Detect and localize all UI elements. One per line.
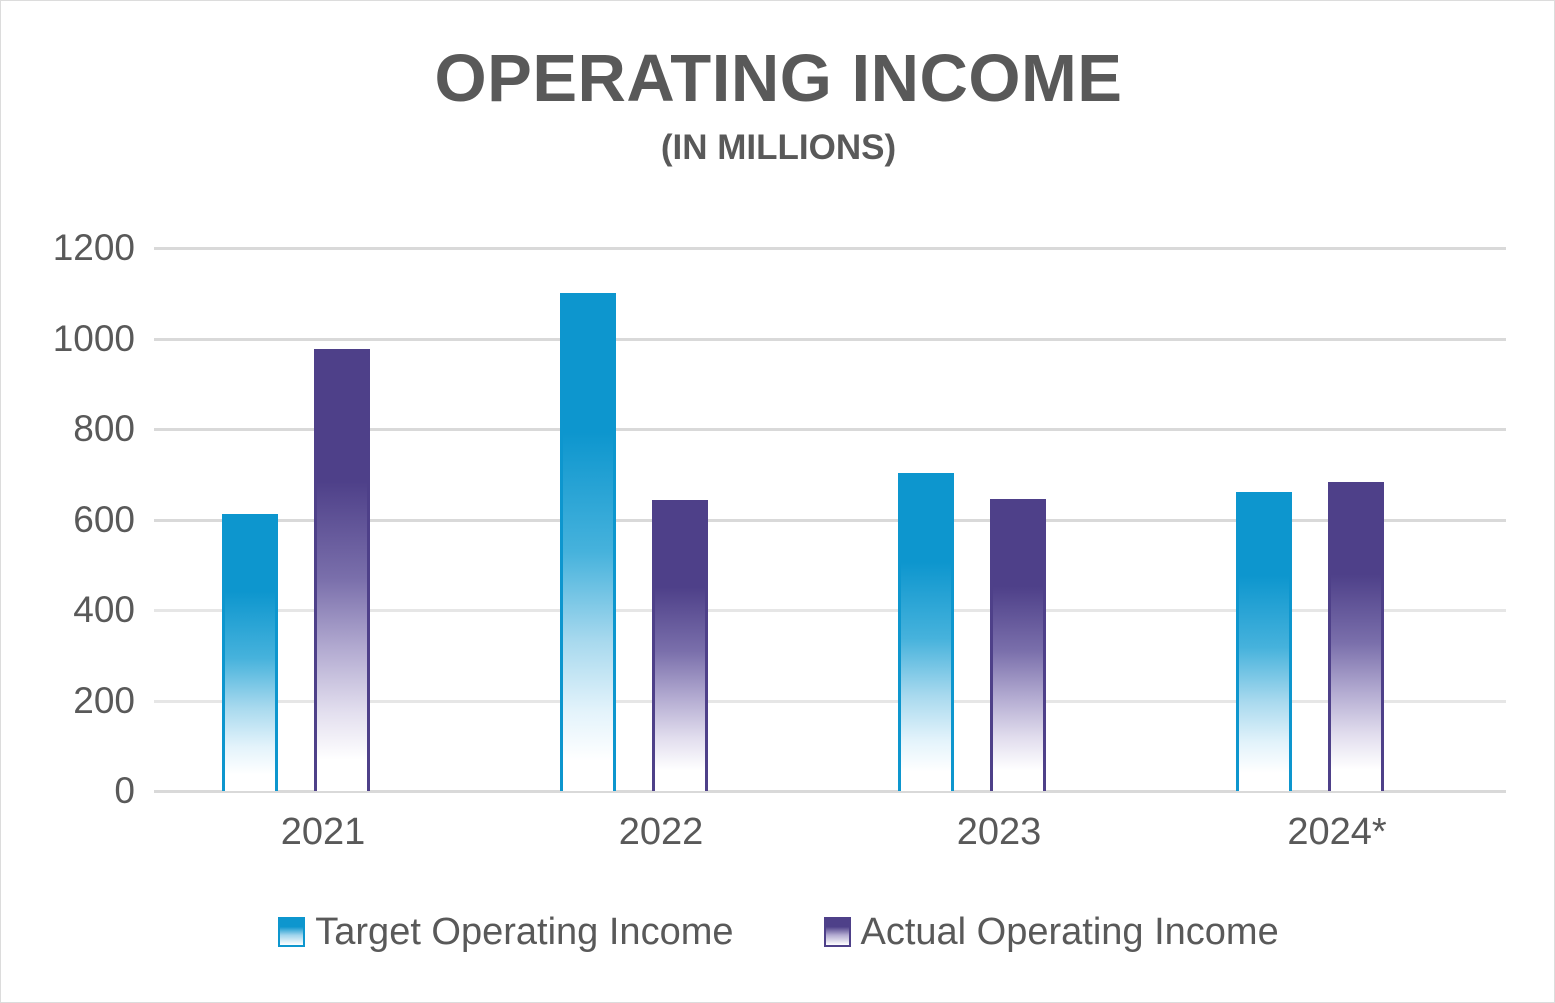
bar-actual-2022[interactable] [652, 500, 708, 791]
actual-swatch-icon [824, 917, 851, 947]
y-axis-label-200: 200 [15, 682, 135, 719]
bar-actual-2024[interactable] [1328, 482, 1384, 791]
y-axis-label-600: 600 [15, 501, 135, 538]
bar-actual-2023[interactable] [990, 499, 1046, 791]
chart-legend: Target Operating Income Actual Operating… [1, 913, 1555, 951]
y-axis-label-0: 0 [15, 772, 135, 809]
bar-actual-2021[interactable] [314, 349, 370, 791]
bar-target-2022[interactable] [560, 293, 616, 791]
y-axis-label-400: 400 [15, 591, 135, 628]
y-axis-label-800: 800 [15, 410, 135, 447]
chart-subtitle: (IN MILLIONS) [1, 130, 1555, 165]
bars-layer [154, 248, 1506, 791]
target-swatch-icon [278, 917, 305, 947]
y-axis-label-1200: 1200 [15, 229, 135, 266]
legend-item-target[interactable]: Target Operating Income [278, 913, 733, 951]
x-axis-label-2024: 2024* [1168, 813, 1506, 851]
legend-label-actual: Actual Operating Income [861, 913, 1279, 951]
bar-target-2021[interactable] [222, 514, 278, 791]
x-axis: 2021202220232024* [154, 813, 1506, 869]
bar-target-2023[interactable] [898, 473, 954, 791]
legend-item-actual[interactable]: Actual Operating Income [824, 913, 1279, 951]
y-axis-label-1000: 1000 [15, 320, 135, 357]
x-axis-label-2021: 2021 [154, 813, 492, 851]
chart-container: OPERATING INCOME (IN MILLIONS) 020040060… [0, 0, 1555, 1003]
x-axis-label-2023: 2023 [830, 813, 1168, 851]
bar-target-2024[interactable] [1236, 492, 1292, 791]
x-axis-label-2022: 2022 [492, 813, 830, 851]
legend-label-target: Target Operating Income [315, 913, 733, 951]
chart-title: OPERATING INCOME [1, 45, 1555, 112]
chart-title-block: OPERATING INCOME (IN MILLIONS) [1, 45, 1555, 165]
